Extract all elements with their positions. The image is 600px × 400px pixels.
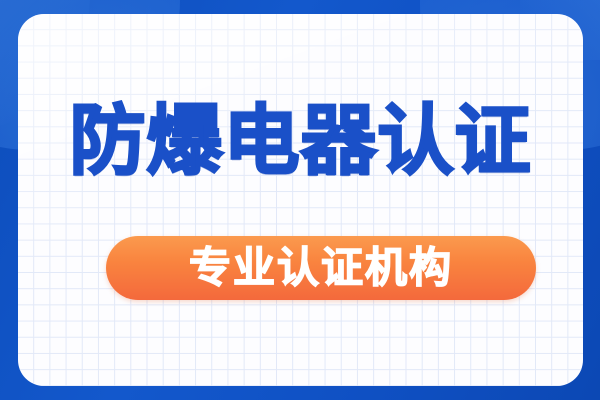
certification-badge-label: 专业认证机构 — [189, 245, 453, 291]
card-content: 防爆电器认证 专业认证机构 — [18, 14, 583, 386]
certification-badge: 专业认证机构 — [106, 236, 536, 300]
page-title: 防爆电器认证 — [18, 100, 583, 184]
grid-card: 防爆电器认证 专业认证机构 — [18, 14, 583, 386]
poster-banner: 防爆电器认证 专业认证机构 — [0, 0, 600, 400]
